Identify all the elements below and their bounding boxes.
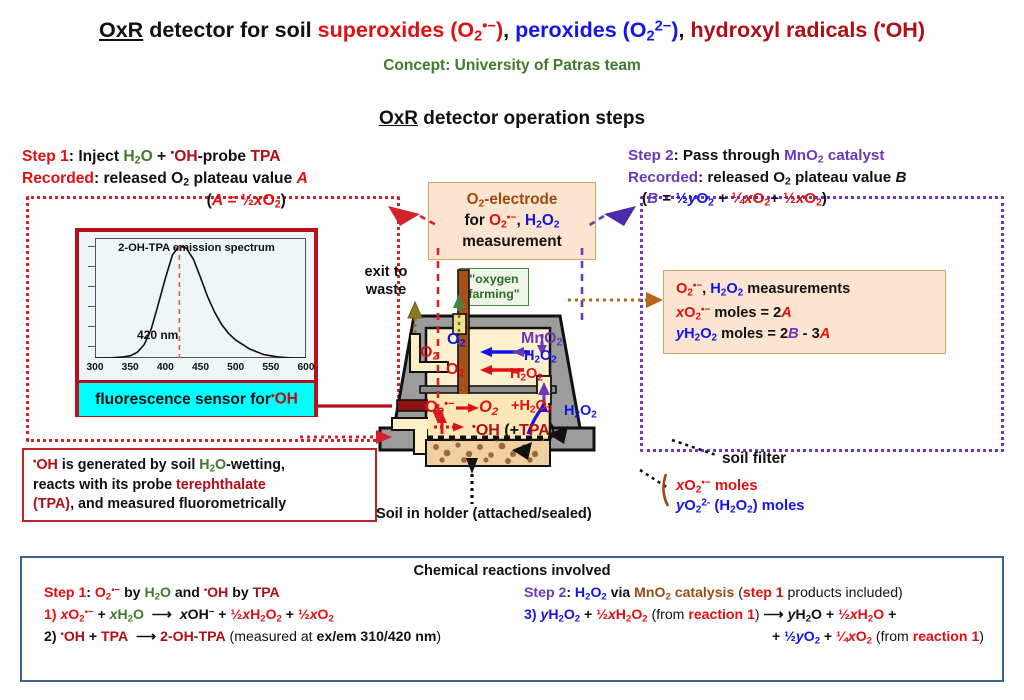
chamber-separator [420,386,556,393]
page-title: OxR detector for soil superoxides (O2•−)… [0,18,1024,45]
soil-moles-label: xO2•− moles yO22- (H2O2) moles [676,477,805,518]
peak-annotation-label: 420 nm [137,328,178,342]
concept-subtitle: Concept: University of Patras team [0,57,1024,75]
y-tick-1 [88,266,95,267]
sensor-bar-text: fluorescence sensor for [95,391,271,409]
operation-steps-title: OxR detector operation steps [0,108,1024,130]
y-tick-2 [88,286,95,287]
x-tick-350: 350 [122,362,139,373]
chem-oh-tpa: •OH (+TPA) [472,421,555,440]
chem-o2-left2: O2 [446,361,465,380]
spectrum-x-tick-labels: 300350400450500550600 [95,362,306,376]
reactions-step2-header: Step 2: H2O2 via MnO2 catalysis (step 1 … [524,582,1002,604]
exit-flow-arrow [408,302,422,318]
x-tick-400: 400 [157,362,174,373]
x-tick-500: 500 [227,362,244,373]
y-tick-3 [88,306,95,307]
chem-h2o2-blue: H2O2 [524,348,557,365]
step2-description: Step 2: Pass through MnO2 catalyst Recor… [628,146,906,211]
reactions-panel-title: Chemical reactions involved [22,563,1002,579]
reaction-2: 2) •OH + TPA ⟶ 2-OH-TPA (measured at ex/… [44,626,512,646]
chem-h2o2-blue2: H2O2 [564,403,597,420]
reaction-1: 1) xO2•− + xH2O ⟶ xOH− + ½xH2O2 + ½xO2 [44,604,512,626]
x-tick-300: 300 [87,362,104,373]
x-tick-600: 600 [298,362,315,373]
fluorescence-sensor-bar: fluorescence sensor for •OH [79,380,314,416]
x-tick-550: 550 [262,362,279,373]
sensor-bar-species: •OH [271,390,298,409]
emission-spectrum-inset: 2-OH-TPA emission spectrum 420 nm 300350… [75,228,318,417]
chem-plus-h2o2: +H2O2 [511,398,552,415]
reactions-step1-header: Step 1: O2•− by H2O and •OH by TPA [44,582,512,604]
reaction-3-line1: 3) yH2O2 + ½xH2O2 (from reaction 1) ⟶ yH… [524,604,1002,626]
step1-description: Step 1: Inject H2O + •OH-probe TPA Recor… [22,146,308,212]
y-tick-0 [88,246,95,247]
chem-o2-left: O2 [420,344,439,363]
measurements-callout: O2•−, H2O2 measurements xO2•− moles = 2A… [663,270,946,354]
chem-mno2: MnO2 [521,330,563,349]
chem-o2-blue: O2 [447,331,466,350]
y-tick-4 [88,326,95,327]
y-tick-5 [88,346,95,347]
chem-h2o2-red: H2O2 [510,366,543,383]
soil-filter-label: soil filter [722,450,786,468]
reactions-step2-column: Step 2: H2O2 via MnO2 catalysis (step 1 … [512,582,1002,648]
reactions-step1-column: Step 1: O2•− by H2O and •OH by TPA 1) xO… [22,582,512,648]
chemical-reactions-panel: Chemical reactions involved Step 1: O2•−… [20,556,1004,682]
hydroxyl-explanation-box: •OH is generated by soil H2O-wetting, re… [22,448,377,522]
reaction-3-line2: + ½yO2 + ¼xO2 (from reaction 1) [524,626,1002,648]
spectrum-plot-area: 2-OH-TPA emission spectrum 420 nm 300350… [79,232,314,380]
chem-superoxide-lower: O2•− [425,398,455,418]
chem-o2-product: O2 [479,398,498,418]
spectrum-curve [95,238,306,358]
x-tick-450: 450 [192,362,209,373]
